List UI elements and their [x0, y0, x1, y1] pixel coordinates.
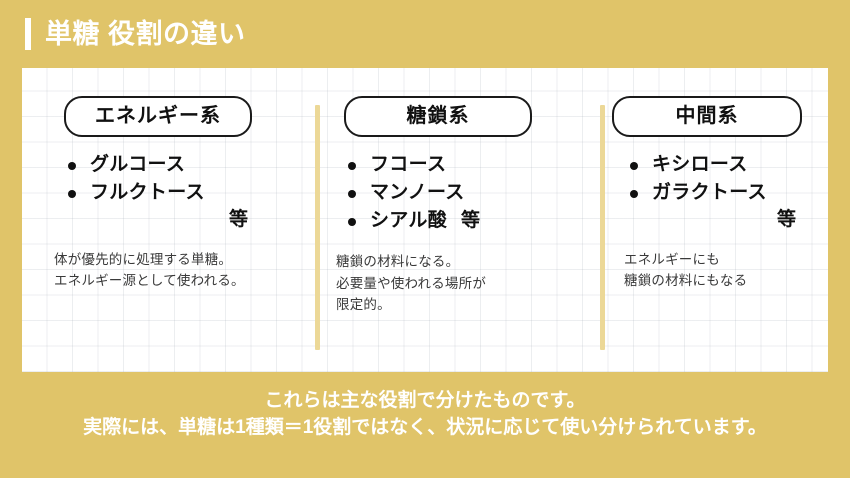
etc-label-energy: 等	[44, 208, 286, 233]
column-intermediate: 中間系 キシロース ガラクトース 等 エネルギーにも 糖鎖の材料にもなる	[582, 68, 828, 372]
description-line: 糖鎖の材料にもなる	[624, 270, 816, 291]
column-description-energy: 体が優先的に処理する単糖。 エネルギー源として使われる。	[44, 249, 286, 292]
list-item: キシロース	[626, 151, 816, 179]
list-item-label: フルクトース	[90, 182, 205, 203]
list-item: ガラクトース	[626, 179, 816, 207]
list-item-label: キシロース	[652, 154, 748, 175]
footer-note: これらは主な役割で分けたものです。 実際には、単糖は1種類＝1役割ではなく、状況…	[0, 388, 850, 442]
etc-label-glycan: 等	[461, 210, 480, 231]
column-glycan: 糖鎖系 フコース マンノース シアル酸等 糖鎖の材料になる。 必要量や使われる場…	[302, 68, 582, 372]
slide-root: 単糖 役割の違い エネルギー系 グルコース フルクトース 等 体が優先的に処理す…	[0, 0, 850, 478]
column-heading-intermediate: 中間系	[612, 96, 802, 137]
description-line: エネルギー源として使われる。	[54, 270, 286, 291]
column-description-glycan: 糖鎖の材料になる。 必要量や使われる場所が 限定的。	[324, 251, 566, 315]
title-accent-bar	[25, 18, 31, 50]
list-item: グルコース	[64, 151, 286, 179]
footer-line: 実際には、単糖は1種類＝1役割ではなく、状況に応じて使い分けられています。	[0, 415, 850, 442]
content-card: エネルギー系 グルコース フルクトース 等 体が優先的に処理する単糖。 エネルギ…	[22, 68, 828, 372]
description-line: 体が優先的に処理する単糖。	[54, 249, 286, 270]
columns-container: エネルギー系 グルコース フルクトース 等 体が優先的に処理する単糖。 エネルギ…	[22, 68, 828, 372]
description-line: 限定的。	[336, 294, 566, 315]
item-list-glycan: フコース マンノース シアル酸等	[324, 151, 566, 235]
description-line: エネルギーにも	[624, 249, 816, 270]
description-line: 糖鎖の材料になる。	[336, 251, 566, 272]
etc-label-intermediate: 等	[606, 208, 816, 233]
list-item: マンノース	[344, 179, 566, 207]
list-item-label: マンノース	[370, 182, 465, 203]
column-energy: エネルギー系 グルコース フルクトース 等 体が優先的に処理する単糖。 エネルギ…	[22, 68, 302, 372]
column-description-intermediate: エネルギーにも 糖鎖の材料にもなる	[606, 249, 816, 292]
list-item-label: グルコース	[90, 154, 185, 175]
list-item: フルクトース	[64, 179, 286, 207]
item-list-energy: グルコース フルクトース	[44, 151, 286, 207]
list-item-label: フコース	[370, 154, 446, 175]
column-heading-glycan: 糖鎖系	[344, 96, 532, 137]
list-item: シアル酸等	[344, 207, 566, 235]
column-heading-energy: エネルギー系	[64, 96, 252, 137]
list-item-label: シアル酸	[370, 210, 447, 231]
description-line: 必要量や使われる場所が	[336, 273, 566, 294]
page-title: 単糖 役割の違い	[25, 14, 246, 54]
list-item-label: ガラクトース	[652, 182, 767, 203]
list-item: フコース	[344, 151, 566, 179]
title-text: 単糖 役割の違い	[45, 21, 246, 48]
footer-line: これらは主な役割で分けたものです。	[0, 388, 850, 415]
item-list-intermediate: キシロース ガラクトース	[606, 151, 816, 207]
